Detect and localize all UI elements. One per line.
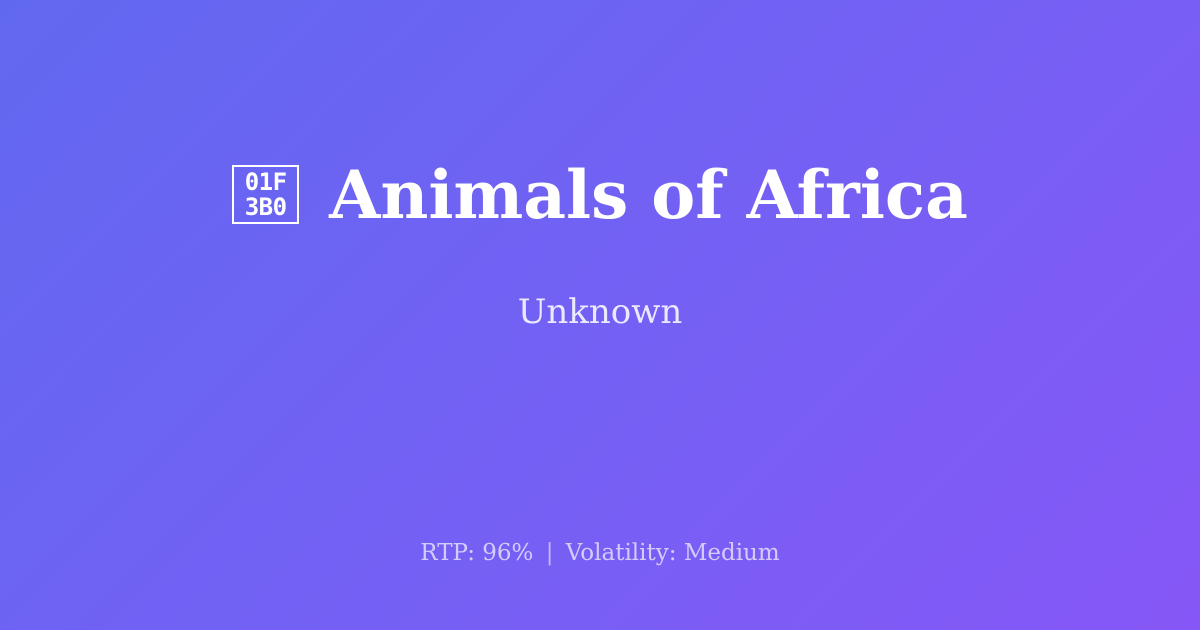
volatility-label: Volatility:	[566, 540, 677, 566]
hero-block: 01F 3B0 Animals of Africa Unknown	[0, 0, 1200, 489]
title-row: 01F 3B0 Animals of Africa	[232, 159, 968, 231]
emoji-codepoint-row-lower: 3B0	[245, 195, 287, 220]
rtp-label: RTP:	[420, 540, 475, 566]
slot-machine-emoji-icon: 01F 3B0	[232, 165, 299, 224]
game-stats-line: RTP: 96% | Volatility: Medium	[0, 540, 1200, 566]
rtp-value: 96%	[482, 540, 533, 566]
stats-separator: |	[541, 540, 559, 566]
provider-subtitle: Unknown	[518, 231, 683, 331]
emoji-codepoint-row-upper: 01F	[245, 170, 287, 195]
volatility-value: Medium	[684, 540, 780, 566]
game-preview-card: 01F 3B0 Animals of Africa Unknown RTP: 9…	[0, 0, 1200, 630]
page-title: Animals of Africa	[329, 159, 968, 231]
